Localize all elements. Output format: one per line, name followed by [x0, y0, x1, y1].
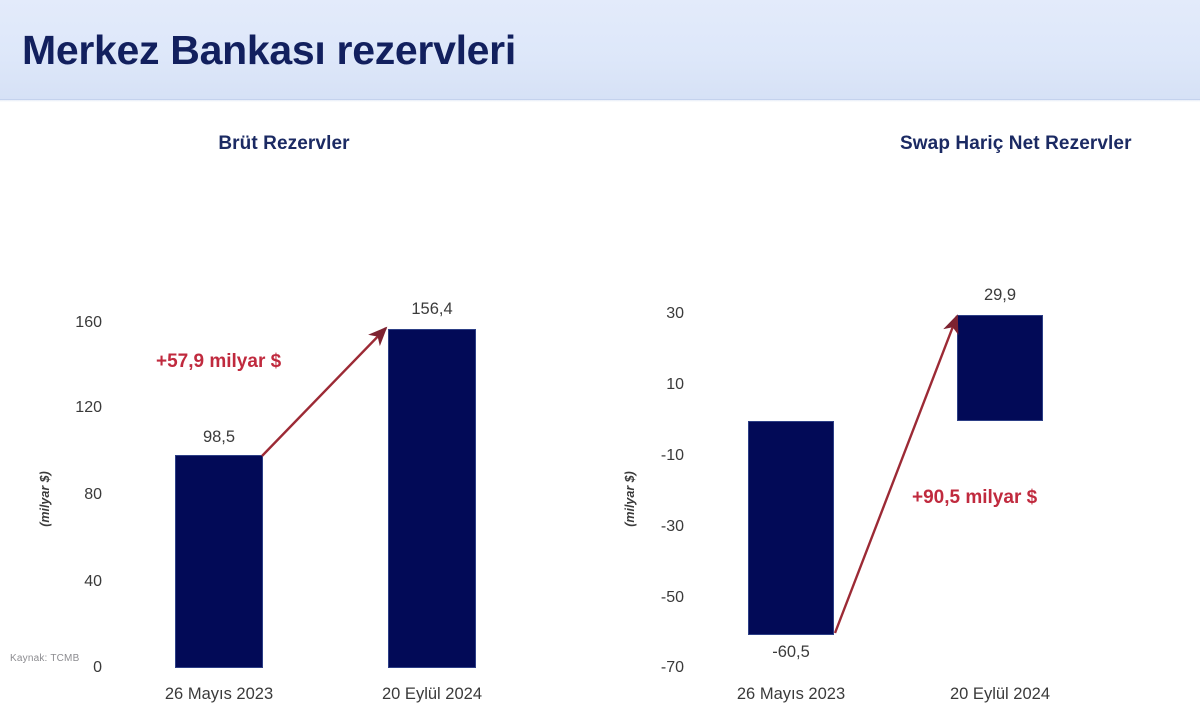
value-label-swap-2024: 29,9	[984, 286, 1016, 305]
y-tick-brut-120: 120	[48, 399, 102, 417]
source-note: Kaynak: TCMB	[10, 653, 79, 664]
x-label-brut-2024: 20 Eylül 2024	[382, 685, 482, 704]
value-label-swap-2023: -60,5	[772, 643, 810, 662]
y-tick-swap-neg50: -50	[630, 589, 684, 607]
growth-arrow-brut	[0, 100, 600, 645]
chart-panel-swap-haric-net-rezervler: Swap Hariç Net Rezervler (milyar $) 30 1…	[600, 100, 1200, 645]
bar-brut-2023[interactable]	[175, 455, 263, 668]
y-tick-swap-neg10: -10	[630, 447, 684, 465]
y-tick-swap-neg30: -30	[630, 518, 684, 536]
chart-panel-brut-rezervler: Brüt Rezervler (milyar $) 160 120 80 40 …	[0, 100, 600, 645]
y-tick-brut-80: 80	[48, 486, 102, 504]
page-title: Merkez Bankası rezervleri	[22, 27, 516, 74]
plot-area-brut-rezervler: (milyar $) 160 120 80 40 0 98,5 156,4 26…	[0, 100, 600, 645]
bar-swap-2024[interactable]	[957, 315, 1043, 421]
y-tick-brut-40: 40	[48, 573, 102, 591]
x-label-swap-2023: 26 Mayıs 2023	[737, 685, 845, 704]
growth-arrow-swap	[600, 100, 1200, 645]
value-label-brut-2023: 98,5	[203, 428, 235, 447]
value-label-brut-2024: 156,4	[411, 300, 452, 319]
y-tick-swap-neg70: -70	[630, 659, 684, 677]
bar-brut-2024[interactable]	[388, 329, 476, 668]
y-tick-swap-30: 30	[630, 305, 684, 323]
header-band: Merkez Bankası rezervleri	[0, 0, 1200, 100]
x-label-swap-2024: 20 Eylül 2024	[950, 685, 1050, 704]
x-label-brut-2023: 26 Mayıs 2023	[165, 685, 273, 704]
plot-area-swap-haric: (milyar $) 30 10 -10 -30 -50 -70 -60,5 2…	[600, 100, 1200, 645]
delta-annotation-swap: +90,5 milyar $	[912, 487, 1037, 509]
delta-annotation-brut: +57,9 milyar $	[156, 351, 281, 373]
y-tick-swap-10: 10	[630, 376, 684, 394]
bar-swap-2023[interactable]	[748, 421, 834, 635]
y-tick-brut-160: 160	[48, 314, 102, 332]
